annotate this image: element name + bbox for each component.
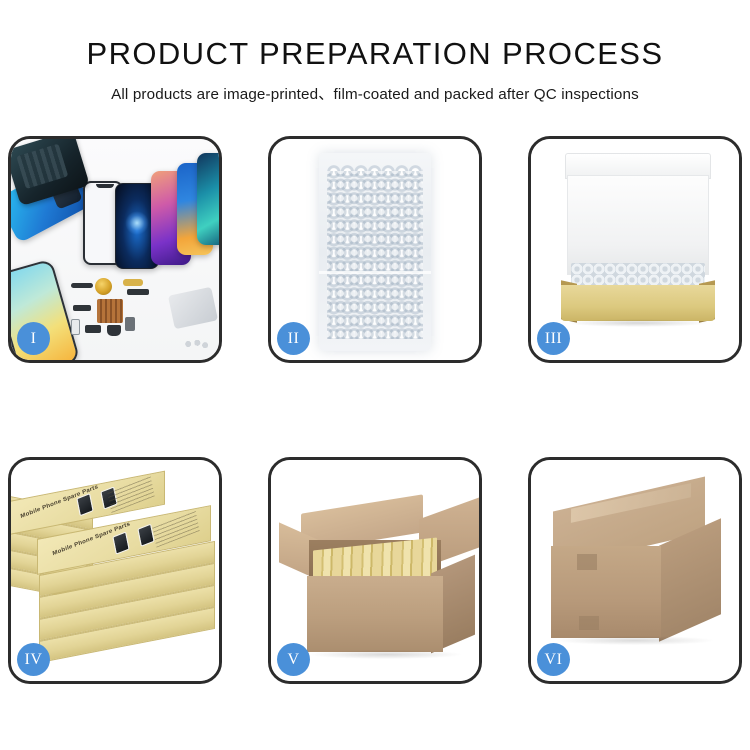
step-panel-1: I (8, 136, 222, 363)
product-preparation-page: PRODUCT PREPARATION PROCESS All products… (0, 0, 750, 750)
page-title: PRODUCT PREPARATION PROCESS (0, 36, 750, 72)
step-panel-2: II (268, 136, 482, 363)
bubble-pattern-back (327, 171, 423, 339)
retail-box-screen-image-c (112, 531, 129, 554)
wrap-seam (319, 271, 431, 274)
part-screws (183, 338, 209, 350)
part-camera-module (71, 319, 80, 335)
page-header: PRODUCT PREPARATION PROCESS All products… (0, 0, 750, 104)
step-badge-2: II (277, 322, 310, 355)
carton-shadow (311, 650, 461, 659)
step-badge-6: VI (537, 643, 570, 676)
part-battery-connector (125, 317, 135, 331)
inner-box-back-wall (567, 175, 709, 275)
step-badge-5: V (277, 643, 310, 676)
retail-box-spec-lines-top (107, 476, 154, 514)
step-badge-3: III (537, 322, 570, 355)
sealed-carton-front (551, 546, 661, 638)
retail-box-spec-lines-main (152, 511, 199, 549)
repair-tool (168, 287, 218, 329)
step-panel-5: V (268, 457, 482, 684)
part-flex-strip (127, 289, 149, 295)
process-steps-grid: I II III (8, 136, 742, 684)
step-panel-4: Mobile Phone Spare Parts Mobile Phone Sp… (8, 457, 222, 684)
carton-hand-hole-lower (579, 616, 599, 630)
step-badge-1: I (17, 322, 50, 355)
part-chip-array (97, 299, 123, 323)
carton-front-panel (307, 576, 443, 652)
part-vibration-motor (107, 325, 121, 336)
part-wireless-coil (95, 278, 112, 295)
bubble-wrap-sheet (319, 153, 431, 351)
part-connector-a (73, 305, 91, 311)
inner-box-shadow (567, 319, 709, 327)
phone-screen-teal (197, 153, 219, 245)
step-badge-4: IV (17, 643, 50, 676)
page-subtitle: All products are image-printed、film-coat… (0, 82, 750, 104)
step-panel-6: VI (528, 457, 742, 684)
step-panel-3: III (528, 136, 742, 363)
part-flex-cable-gold (123, 279, 143, 286)
inner-box-front-panel (561, 285, 715, 321)
part-speaker-mesh (71, 283, 93, 288)
part-connector-b (85, 325, 101, 333)
carton-hand-hole-upper (577, 554, 597, 570)
sealed-carton-shadow (557, 636, 713, 645)
retail-box-screen-image-a (77, 493, 94, 516)
